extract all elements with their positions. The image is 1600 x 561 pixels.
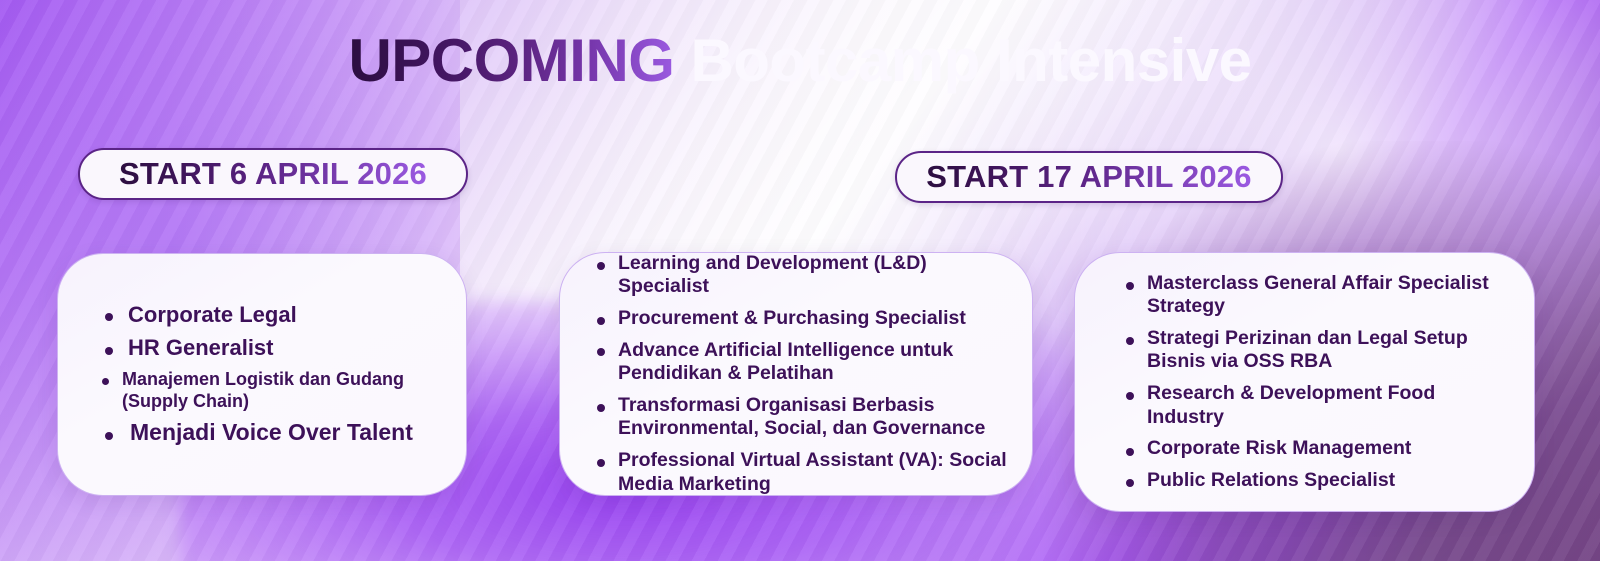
title-highlight: UPCOMING (348, 27, 674, 94)
start-date-badge-1[interactable]: START 6 APRIL 2026 (78, 148, 468, 200)
start-date-badge-2[interactable]: START 17 APRIL 2026 (895, 151, 1283, 203)
program-card-batch-3: Masterclass General Affair Specialist St… (1074, 252, 1535, 512)
program-list-2: Learning and Development (L&D) Specialis… (560, 252, 1032, 496)
list-item: Public Relations Specialist (1119, 469, 1510, 493)
program-card-batch-2: Learning and Development (L&D) Specialis… (559, 252, 1033, 496)
list-item: Professional Virtual Assistant (VA): Soc… (590, 449, 1010, 496)
list-item: Masterclass General Affair Specialist St… (1119, 272, 1510, 319)
list-item: HR Generalist (98, 335, 456, 362)
list-item: Corporate Legal (98, 302, 456, 329)
list-item: Corporate Risk Management (1119, 437, 1510, 461)
list-item: Procurement & Purchasing Specialist (590, 307, 1010, 331)
start-date-badge-2-label: START 17 APRIL 2026 (926, 159, 1251, 195)
program-card-batch-1: Corporate LegalHR GeneralistManajemen Lo… (57, 253, 467, 496)
program-list-3: Masterclass General Affair Specialist St… (1075, 272, 1534, 493)
start-date-badge-1-label: START 6 APRIL 2026 (119, 156, 427, 192)
list-item: Manajemen Logistik dan Gudang (Supply Ch… (98, 369, 456, 413)
program-list-1: Corporate LegalHR GeneralistManajemen Lo… (58, 302, 466, 448)
list-item: Menjadi Voice Over Talent (98, 419, 456, 447)
page-title: UPCOMINGBootcamp Intensive (0, 26, 1600, 97)
banner-content: UPCOMINGBootcamp Intensive START 6 APRIL… (0, 0, 1600, 561)
list-item: Research & Development Food Industry (1119, 382, 1510, 429)
title-rest: Bootcamp Intensive (690, 27, 1251, 94)
list-item: Learning and Development (L&D) Specialis… (590, 252, 1010, 299)
promotional-banner: UPCOMINGBootcamp Intensive START 6 APRIL… (0, 0, 1600, 561)
list-item: Transformasi Organisasi Berbasis Environ… (590, 394, 1010, 441)
list-item: Strategi Perizinan dan Legal Setup Bisni… (1119, 327, 1510, 374)
list-item: Advance Artificial Intelligence untuk Pe… (590, 339, 1010, 386)
